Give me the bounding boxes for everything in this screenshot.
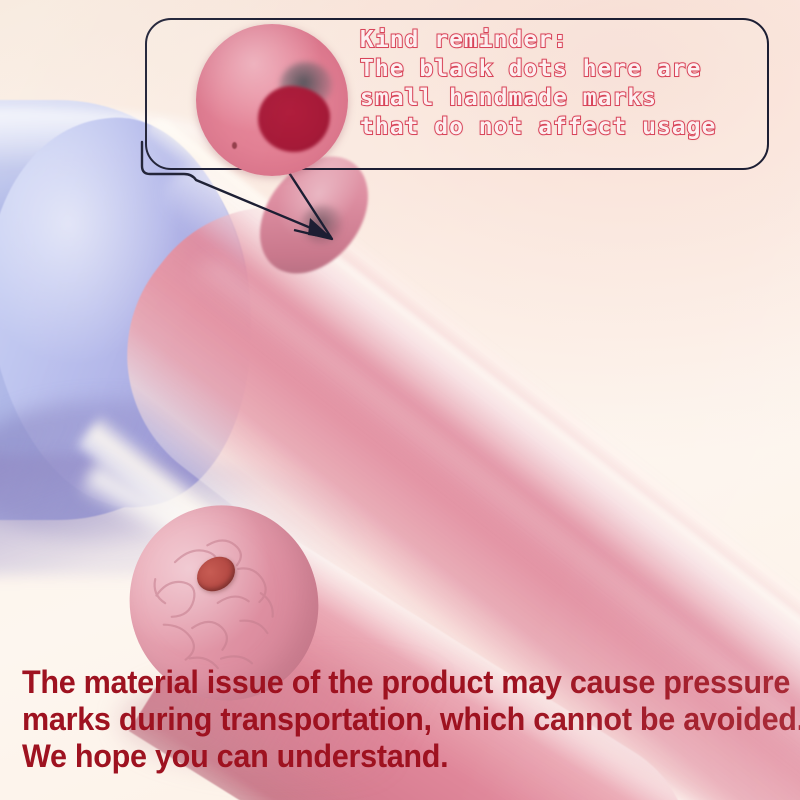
reminder-line-1: Kind reminder:	[360, 26, 760, 55]
magnified-tube-tip-inset	[196, 24, 348, 176]
caption-line-2: marks during transportation, which canno…	[22, 701, 757, 738]
kind-reminder-text: Kind reminder: The black dots here are s…	[360, 26, 760, 142]
reminder-line-4: that do not affect usage	[360, 113, 760, 142]
bottom-caption: The material issue of the product may ca…	[22, 664, 757, 775]
magnified-speck	[232, 142, 237, 149]
magnified-tube-hole	[258, 86, 330, 152]
caption-line-3: We hope you can understand.	[22, 738, 757, 775]
product-image-canvas: Kind reminder: The black dots here are s…	[0, 0, 800, 800]
caption-line-1: The material issue of the product may ca…	[22, 664, 757, 701]
reminder-line-2: The black dots here are	[360, 55, 760, 84]
reminder-line-3: small handmade marks	[360, 84, 760, 113]
black-dot-mark	[300, 205, 346, 245]
